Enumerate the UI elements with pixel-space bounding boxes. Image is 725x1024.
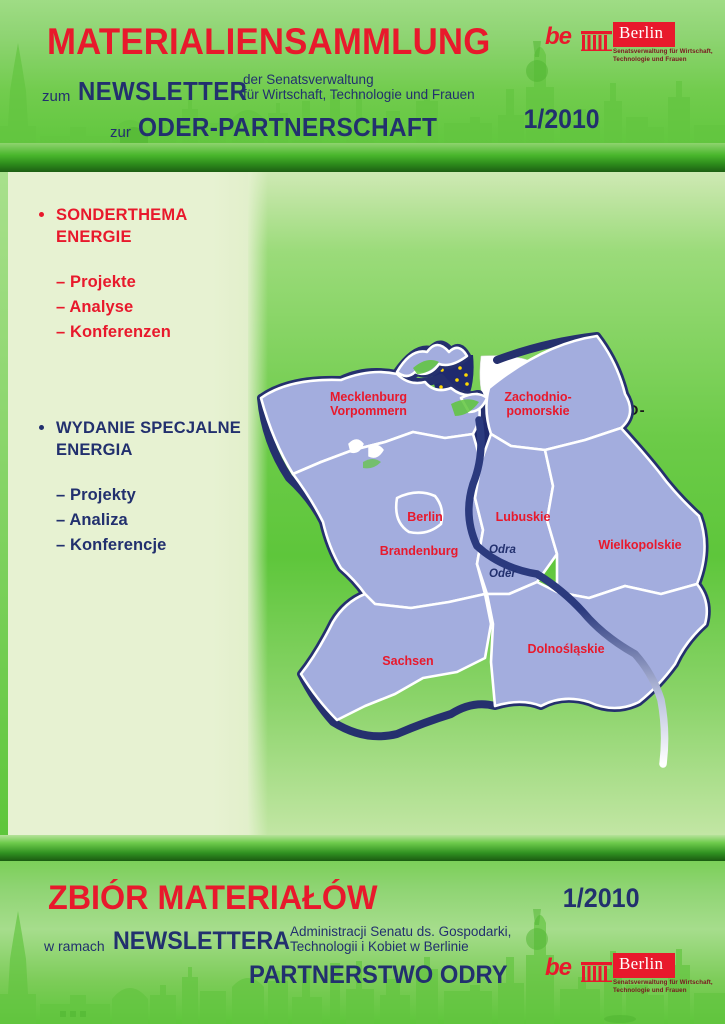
sidebar-item-konferenzen: – Konferenzen: [56, 320, 187, 345]
sidebar-block-wydanie-specjalne: WYDANIE SPECJALNE ENERGIA – Projekty – A…: [36, 417, 241, 558]
sidebar-heading-wydanie: WYDANIE SPECJALNE ENERGIA: [36, 417, 241, 461]
sidebar-list-polish: – Projekty – Analiza – Konferencje: [36, 483, 241, 558]
footer-subtitle-line2: Technologii i Kobiet w Berlinie: [290, 939, 511, 954]
logo-subline-footer-2: Technologie und Frauen: [613, 987, 725, 995]
header-subtitle: der Senatsverwaltung für Wirtschaft, Tec…: [243, 72, 475, 102]
berlin-wordmark: Berlin: [619, 23, 663, 43]
region-wielkopolskie: [545, 428, 705, 598]
poster-page: MATERIALIENSAMMLUNG zum NEWSLETTER der S…: [0, 0, 725, 1024]
sidebar-list-german: – Projekte – Analyse – Konferenzen: [36, 270, 187, 345]
footer-banner: ZBIÓR MATERIAŁÓW w ramach NEWSLETTERA Ad…: [0, 861, 725, 1024]
header-oder-line: zur ODER-PARTNERSCHAFT: [110, 112, 456, 143]
header-subtitle-line2: für Wirtschaft, Technologie und Frauen: [243, 87, 475, 102]
map-label-river-odra: Odra: [489, 544, 516, 556]
header-newsletter-label: NEWSLETTER: [78, 76, 247, 107]
map-label-mecklenburg-vorpommern: Mecklenburg Vorpommern: [301, 390, 436, 418]
header-issue-number: 1/2010: [524, 104, 600, 135]
footer-title: ZBIÓR MATERIAŁÓW: [48, 879, 378, 918]
map-label-berlin: Berlin: [393, 510, 457, 524]
footer-partnerstwo-odry-label: PARTNERSTWO ODRY: [249, 961, 508, 990]
logo-subline: Senatsverwaltung für Wirtschaft, Technol…: [613, 48, 725, 64]
map-label-brandenburg: Brandenburg: [355, 544, 483, 558]
sidebar-item-konferencje: – Konferencje: [56, 533, 241, 558]
be-wordmark: be: [545, 25, 571, 49]
logo-subline-1: Senatsverwaltung für Wirtschaft,: [613, 48, 725, 56]
map-label-zachodniopomorskie-line1: Zachodnio-: [504, 390, 571, 404]
header-oder-partnerschaft-label: ODER-PARTNERSCHAFT: [138, 112, 437, 143]
main-content: SONDERTHEMA ENERGIE – Projekte – Analyse…: [0, 172, 725, 835]
page-title: MATERIALIENSAMMLUNG: [47, 21, 490, 63]
map-label-lubuskie: Lubuskie: [483, 510, 563, 524]
berlin-wordmark-footer: Berlin: [619, 954, 663, 974]
brandenburg-gate-icon: [581, 31, 612, 51]
sidebar-item-projekty: – Projekty: [56, 483, 241, 508]
sidebar-heading-sonderthema-line2: ENERGIE: [56, 228, 132, 246]
header-divider-band: [0, 143, 725, 172]
footer-newslettera-label: NEWSLETTERA: [113, 927, 290, 956]
footer-subtitle-line1: Administracji Senatu ds. Gospodarki,: [290, 924, 511, 939]
sidebar-heading-wydanie-line2: ENERGIA: [56, 441, 133, 459]
sidebar-heading-sonderthema: SONDERTHEMA ENERGIE: [36, 204, 187, 248]
berlin-wordmark-box: Berlin: [613, 22, 675, 47]
map-label-dolnoslaskie: Dolnośląskie: [505, 642, 627, 656]
berlin-wordmark-box-footer: Berlin: [613, 953, 675, 978]
sidebar-heading-sonderthema-line1: SONDERTHEMA: [56, 206, 187, 224]
sidebar-item-projekte: – Projekte: [56, 270, 187, 295]
sidebar-block-sonderthema: SONDERTHEMA ENERGIE – Projekte – Analyse…: [36, 204, 187, 345]
be-berlin-logo-header: be Berlin Senatsverwaltung für Wirtschaf…: [545, 22, 675, 66]
map-label-zachodniopomorskie: Zachodnio- pomorskie: [483, 390, 593, 418]
logo-subline-footer-1: Senatsverwaltung für Wirtschaft,: [613, 979, 725, 987]
map-label-mecklenburg-line1: Mecklenburg: [330, 390, 407, 404]
map-graphic: [245, 302, 725, 772]
footer-newsletter-line: w ramach NEWSLETTERA: [44, 927, 303, 956]
header-subtitle-line1: der Senatsverwaltung: [243, 72, 475, 87]
header-newsletter-line: zum NEWSLETTER: [42, 76, 262, 107]
sidebar-item-analiza: – Analiza: [56, 508, 241, 533]
footer-divider-band: [0, 835, 725, 861]
map-label-mecklenburg-line2: Vorpommern: [330, 404, 407, 418]
footer-issue-number: 1/2010: [563, 883, 640, 914]
sidebar-heading-wydanie-line1: WYDANIE SPECJALNE: [56, 419, 241, 437]
be-wordmark-footer: be: [545, 956, 571, 980]
logo-subline-footer: Senatsverwaltung für Wirtschaft, Technol…: [613, 979, 725, 995]
header-zum-label: zum: [42, 88, 70, 105]
sidebar-item-analyse: – Analyse: [56, 295, 187, 320]
map-label-sachsen: Sachsen: [365, 654, 451, 668]
footer-w-ramach-label: w ramach: [44, 938, 105, 954]
header-zur-label: zur: [110, 124, 131, 141]
be-berlin-logo-footer: be Berlin Senatsverwaltung für Wirtschaf…: [545, 953, 675, 997]
map-label-river-oder: Oder: [489, 568, 516, 580]
logo-subline-2: Technologie und Frauen: [613, 56, 725, 64]
header-banner: MATERIALIENSAMMLUNG zum NEWSLETTER der S…: [0, 0, 725, 156]
left-edge-strip: [0, 172, 8, 835]
map-label-zachodniopomorskie-line2: pomorskie: [506, 404, 569, 418]
oder-partnership-map: Mecklenburg Vorpommern Zachodnio- pomors…: [245, 302, 725, 772]
footer-subtitle: Administracji Senatu ds. Gospodarki, Tec…: [290, 924, 511, 954]
brandenburg-gate-icon-footer: [581, 962, 612, 982]
map-label-wielkopolskie: Wielkopolskie: [577, 538, 703, 552]
